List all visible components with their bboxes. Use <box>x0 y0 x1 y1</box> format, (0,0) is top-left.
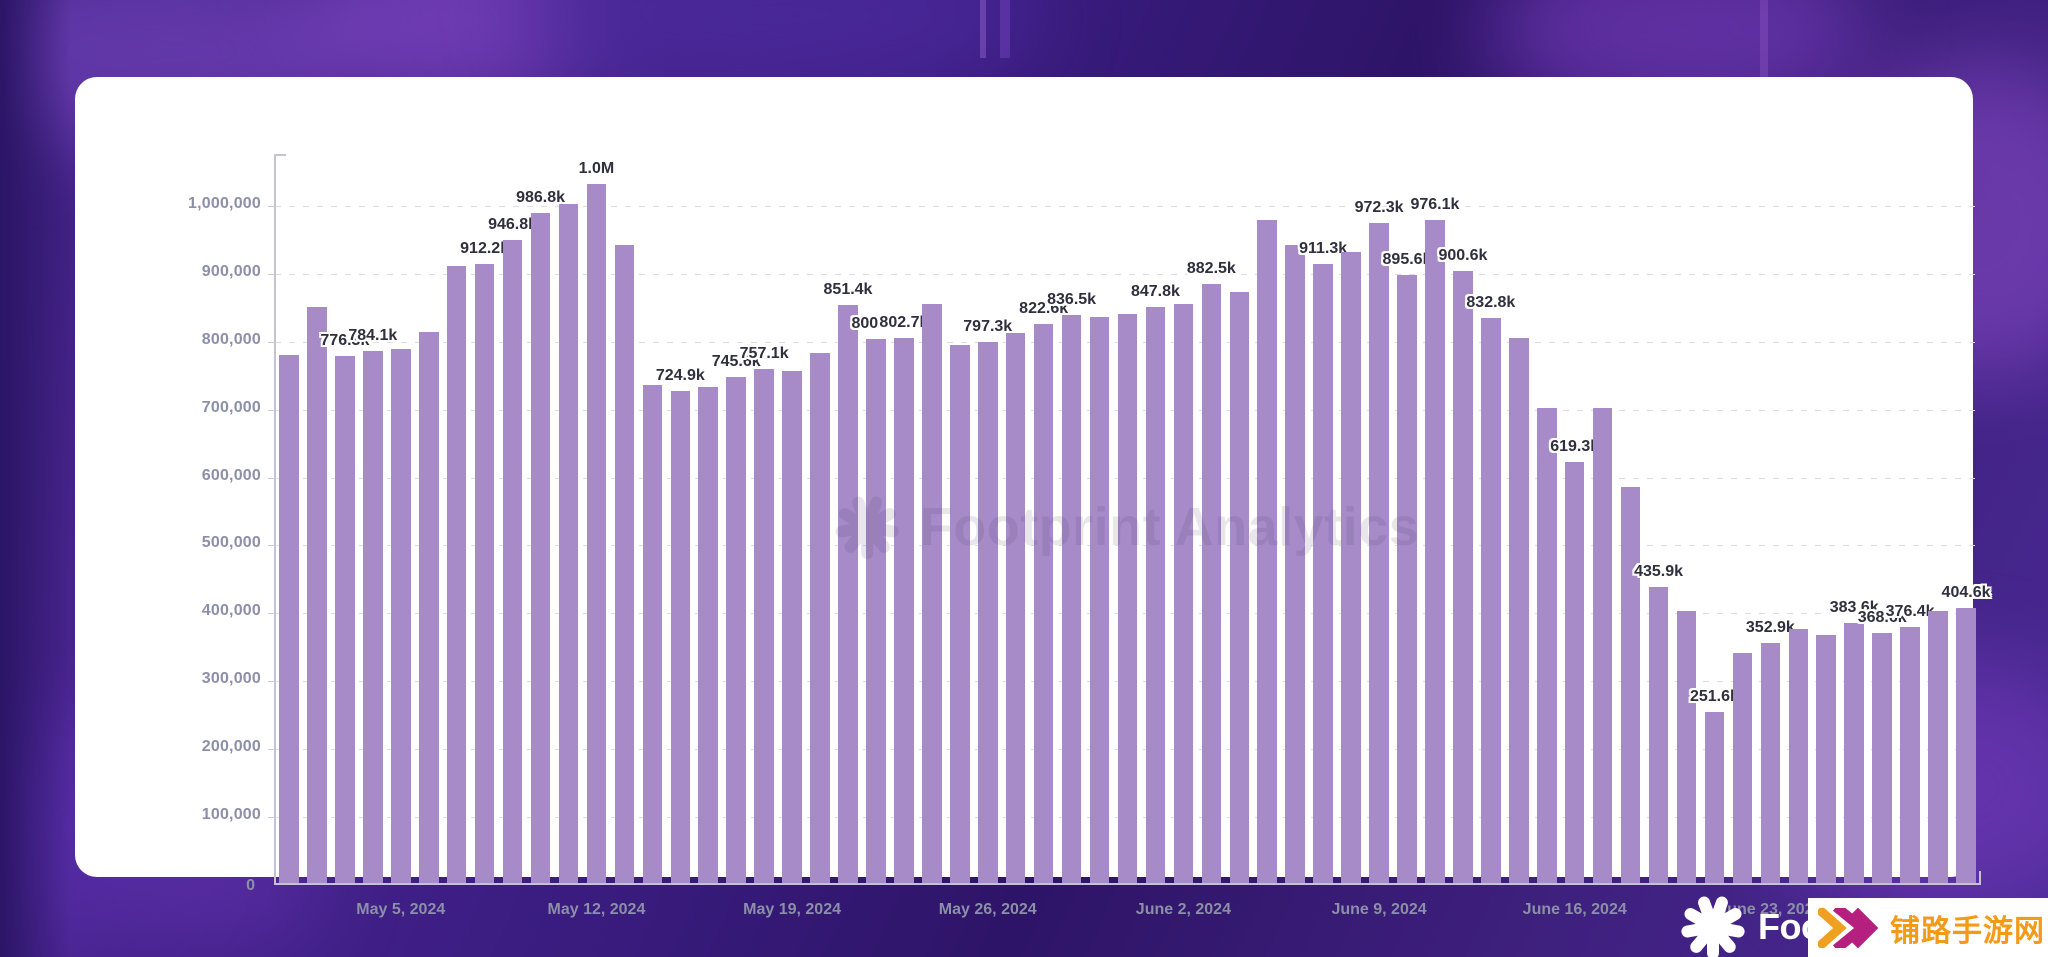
chart-bar[interactable] <box>587 184 607 883</box>
bar-value-label: 946.8k <box>488 216 537 234</box>
bar-value-label: 882.5k <box>1187 260 1236 278</box>
bar-value-label: 972.3k <box>1355 199 1404 217</box>
bar-value-label: 911.3k <box>1299 240 1347 258</box>
chart-bar[interactable] <box>1509 338 1529 883</box>
chart-bar[interactable] <box>1397 275 1417 883</box>
bar-value-label: 776.3k <box>320 332 369 350</box>
bar-value-label: 352.9k <box>1746 619 1795 637</box>
bar-value-label: 986.8k <box>516 189 565 207</box>
site-watermark-label: 铺路手游网 <box>1890 906 2045 950</box>
chart-bar[interactable] <box>1481 318 1501 884</box>
bar-value-label: 757.1k <box>740 345 789 363</box>
double-chevron-right-icon <box>1818 908 1880 948</box>
chart-bar[interactable] <box>391 349 411 883</box>
bar-value-label: 895.6k <box>1383 251 1432 269</box>
chart-bar[interactable] <box>615 245 635 883</box>
chart-bar[interactable] <box>1705 712 1725 883</box>
bar-value-label: 800.7k <box>851 315 900 333</box>
bar-value-label: 383.6k <box>1830 599 1879 617</box>
bar-value-label: 912.2k <box>460 240 509 258</box>
chart-bar[interactable] <box>866 339 886 883</box>
bar-value-label: 976.1k <box>1410 196 1459 214</box>
chart-bar[interactable] <box>922 304 942 883</box>
bar-value-label: 251.6k <box>1690 688 1739 706</box>
chart-bar[interactable] <box>894 338 914 883</box>
chart-bar[interactable] <box>1621 487 1641 883</box>
chart-bar[interactable] <box>1257 220 1277 883</box>
x-axis-tick-label: May 26, 2024 <box>939 901 1037 919</box>
chart-bar[interactable] <box>978 342 998 883</box>
footprint-sunburst-icon <box>1682 896 1744 957</box>
chart-bar[interactable] <box>1118 314 1138 883</box>
chart-bar[interactable] <box>1761 643 1781 883</box>
chart-bar[interactable] <box>643 385 663 883</box>
chart-bar[interactable] <box>1090 317 1110 883</box>
chart-bar[interactable] <box>1230 292 1250 883</box>
bar-value-label: 836.5k <box>1047 291 1096 309</box>
bar-value-label: 435.9k <box>1634 563 1683 581</box>
bar-value-label: 832.8k <box>1466 294 1515 312</box>
chart-bar[interactable] <box>1034 324 1054 883</box>
chart-bar[interactable] <box>1677 611 1697 883</box>
chart-bar[interactable] <box>279 355 299 883</box>
chart-bar[interactable] <box>1062 315 1082 883</box>
chart-bar[interactable] <box>698 387 718 883</box>
chart-bar[interactable] <box>1649 587 1669 883</box>
chart-bar[interactable] <box>1341 252 1361 884</box>
chart-bar[interactable] <box>307 307 327 884</box>
y-axis-tick-label: 200,000 <box>202 738 261 756</box>
bar-value-label: 822.6k <box>1019 300 1068 318</box>
chart-bars: 776.3k784.1k912.2k946.8k986.8k1.0M724.9k… <box>275 172 1980 883</box>
chart-bar[interactable] <box>754 369 774 883</box>
y-axis-zero-label: 0 <box>246 877 255 895</box>
bar-value-label: 900.6k <box>1438 247 1487 265</box>
chart-bar[interactable] <box>1928 611 1948 883</box>
chart-bar[interactable] <box>1789 629 1809 883</box>
y-axis-tick-label: 900,000 <box>202 263 261 281</box>
chart-bar[interactable] <box>671 391 691 883</box>
chart-bar[interactable] <box>1425 220 1445 883</box>
x-axis-tick-label: May 5, 2024 <box>356 901 445 919</box>
chart-bar[interactable] <box>838 305 858 883</box>
y-axis-tick-label: 700,000 <box>202 399 261 417</box>
bar-value-label: 847.8k <box>1131 283 1180 301</box>
chart-bar[interactable] <box>1369 223 1389 883</box>
chart-bar[interactable] <box>1202 284 1222 883</box>
chart-bar[interactable] <box>559 204 579 883</box>
background-decoration <box>1000 0 1010 58</box>
chart-bar[interactable] <box>726 377 746 883</box>
chart-bar[interactable] <box>950 345 970 883</box>
chart-bar[interactable] <box>1285 245 1305 883</box>
x-axis-tick-label: June 16, 2024 <box>1523 901 1627 919</box>
y-axis-tick-label: 1,000,000 <box>188 195 261 213</box>
chart-bar[interactable] <box>1537 408 1557 883</box>
chart-bar[interactable] <box>503 240 523 883</box>
bar-value-label: 851.4k <box>824 281 873 299</box>
x-axis-tick-label: May 12, 2024 <box>547 901 645 919</box>
chart-bar[interactable] <box>1174 304 1194 883</box>
chart-bar[interactable] <box>1816 635 1836 883</box>
x-axis-tick-label: May 19, 2024 <box>743 901 841 919</box>
background-decoration <box>0 0 70 957</box>
chart-bar[interactable] <box>1593 408 1613 883</box>
chart-bar[interactable] <box>363 351 383 883</box>
bar-value-label: 802.7k <box>879 314 928 332</box>
bar-value-label: 368.6k <box>1858 609 1907 627</box>
chart-bar[interactable] <box>335 356 355 883</box>
chart-bar[interactable] <box>1313 264 1333 883</box>
bar-value-label: 784.1k <box>348 327 397 345</box>
y-axis-tick-label: 300,000 <box>202 670 261 688</box>
bar-value-label: 1.0M <box>579 160 615 178</box>
chart-bar[interactable] <box>1733 653 1753 883</box>
chart-bar[interactable] <box>810 353 830 883</box>
chart-bar[interactable] <box>1900 627 1920 883</box>
y-axis-cap <box>274 154 286 156</box>
chart-bar[interactable] <box>782 371 802 883</box>
chart-bar[interactable] <box>1956 608 1976 883</box>
chart-bar[interactable] <box>1872 633 1892 883</box>
bar-value-label: 619.3k <box>1550 438 1599 456</box>
chart-bar[interactable] <box>1844 623 1864 883</box>
y-axis-tick-label: 100,000 <box>202 806 261 824</box>
bar-value-label: 724.9k <box>656 367 705 385</box>
background-decoration <box>980 0 986 58</box>
chart-bar[interactable] <box>1565 462 1585 883</box>
chart-bar[interactable] <box>447 266 467 883</box>
chart-bar[interactable] <box>531 213 551 883</box>
chart-bar[interactable] <box>1453 271 1473 883</box>
chart-card: 100,000200,000300,000400,000500,000600,0… <box>75 77 1973 877</box>
y-axis-tick-label: 500,000 <box>202 534 261 552</box>
chart-plot-area: 100,000200,000300,000400,000500,000600,0… <box>275 172 1980 885</box>
chart-bar[interactable] <box>1146 307 1166 883</box>
chart-bar[interactable] <box>419 332 439 883</box>
bar-value-label: 745.6k <box>712 353 761 371</box>
y-axis-tick-label: 800,000 <box>202 331 261 349</box>
y-axis-tick-label: 600,000 <box>202 467 261 485</box>
chart-bar[interactable] <box>1006 333 1026 883</box>
y-axis-tick-label: 400,000 <box>202 602 261 620</box>
site-watermark-overlay: 铺路手游网 <box>1808 898 2048 957</box>
bar-value-label: 376.4k <box>1886 603 1935 621</box>
x-axis-tick-label: June 9, 2024 <box>1331 901 1426 919</box>
bar-value-label: 797.3k <box>963 318 1012 336</box>
x-axis-tick-label: June 2, 2024 <box>1136 901 1231 919</box>
chart-bar[interactable] <box>475 264 495 883</box>
